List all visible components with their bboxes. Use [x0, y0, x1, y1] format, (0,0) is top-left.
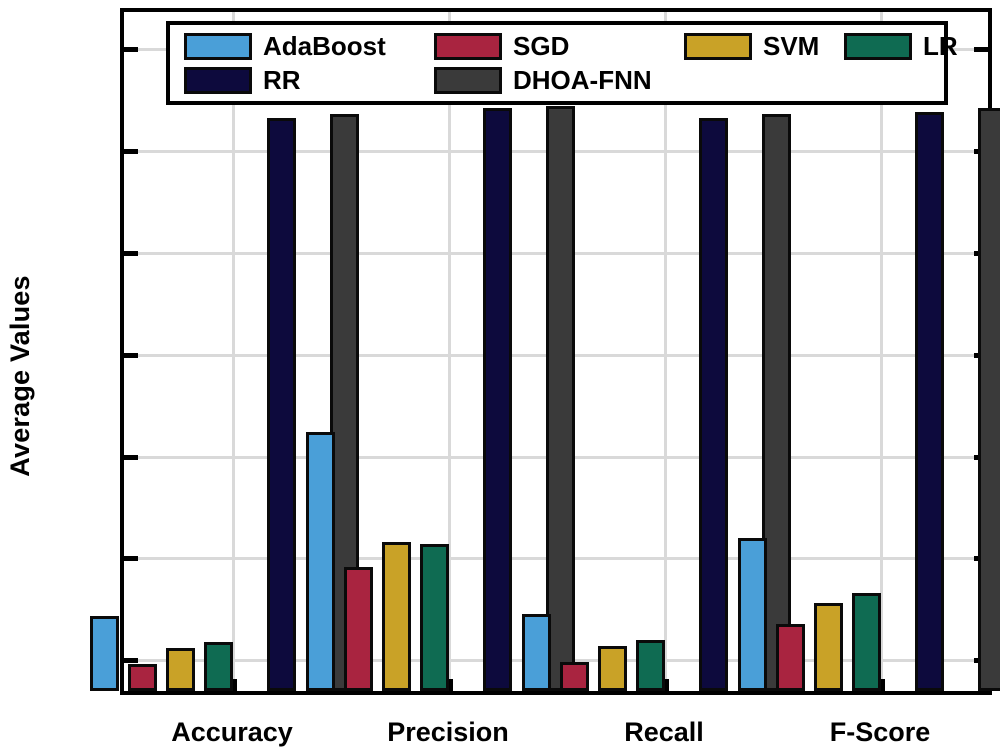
x-gridline	[664, 12, 667, 691]
x-tick-label-precision: Precision	[328, 717, 568, 748]
legend-label: SGD	[513, 31, 569, 62]
legend-item-sgd[interactable]: SGD	[434, 29, 569, 63]
legend-item-rr[interactable]: RR	[184, 63, 301, 97]
x-tick-mark	[880, 679, 885, 691]
y-tick-mark	[974, 47, 988, 52]
bar-svm-f-score	[814, 603, 843, 691]
bar-adaboost-recall	[522, 614, 551, 691]
y-tick-mark	[124, 455, 138, 460]
legend-item-dhoa-fnn[interactable]: DHOA-FNN	[434, 63, 652, 97]
bar-lr-precision	[420, 544, 449, 691]
bar-rr-f-score	[915, 112, 944, 691]
bar-lr-recall	[636, 640, 665, 691]
legend-label: RR	[263, 65, 301, 96]
plot-area: 0.70.750.80.850.90.951AccuracyPrecisionR…	[120, 8, 992, 695]
bar-sgd-precision	[344, 567, 373, 691]
bar-lr-f-score	[852, 593, 881, 691]
legend-label: LR	[923, 31, 958, 62]
bar-dhoa-fnn-f-score	[978, 108, 1000, 691]
x-gridline	[880, 12, 883, 691]
y-tick-mark	[124, 353, 138, 358]
y-tick-mark	[124, 556, 138, 561]
y-tick-mark	[124, 47, 138, 52]
legend-item-lr[interactable]: LR	[844, 29, 958, 63]
bar-dhoa-fnn-precision	[546, 106, 575, 691]
legend-swatch-icon	[184, 33, 252, 60]
legend-row: RRDHOA-FNN	[184, 63, 934, 97]
bar-adaboost-accuracy	[90, 616, 119, 691]
x-tick-mark	[664, 679, 669, 691]
legend-swatch-icon	[184, 67, 252, 94]
bar-adaboost-precision	[306, 432, 335, 691]
bar-rr-accuracy	[267, 118, 296, 691]
bar-sgd-f-score	[776, 624, 805, 691]
legend-swatch-icon	[434, 67, 502, 94]
y-tick-mark	[124, 658, 138, 663]
legend-label: DHOA-FNN	[513, 65, 652, 96]
bar-rr-precision	[483, 108, 512, 691]
bar-svm-accuracy	[166, 648, 195, 691]
plot-inner: 0.70.750.80.850.90.951AccuracyPrecisionR…	[124, 12, 988, 691]
x-tick-label-f-score: F-Score	[760, 717, 1000, 748]
legend-label: AdaBoost	[263, 31, 386, 62]
bar-svm-recall	[598, 646, 627, 691]
y-axis-title: Average Values	[0, 0, 40, 752]
legend-label: SVM	[763, 31, 819, 62]
bar-sgd-accuracy	[128, 664, 157, 691]
bar-svm-precision	[382, 542, 411, 691]
legend-swatch-icon	[434, 33, 502, 60]
legend-swatch-icon	[684, 33, 752, 60]
x-tick-mark	[448, 679, 453, 691]
legend-item-svm[interactable]: SVM	[684, 29, 819, 63]
x-tick-mark	[232, 679, 237, 691]
bar-adaboost-f-score	[738, 538, 767, 691]
legend-swatch-icon	[844, 33, 912, 60]
x-gridline	[232, 12, 235, 691]
chart-legend: AdaBoostSGDSVMLRRRDHOA-FNN	[166, 21, 948, 105]
x-tick-label-recall: Recall	[544, 717, 784, 748]
y-tick-mark	[124, 149, 138, 154]
legend-row: AdaBoostSGDSVMLR	[184, 29, 934, 63]
x-tick-label-accuracy: Accuracy	[112, 717, 352, 748]
bar-sgd-recall	[560, 662, 589, 691]
legend-item-adaboost[interactable]: AdaBoost	[184, 29, 386, 63]
bar-lr-accuracy	[204, 642, 233, 691]
bar-rr-recall	[699, 118, 728, 691]
bar-chart-figure: Average Values 0.70.750.80.850.90.951Acc…	[0, 0, 1000, 752]
y-tick-mark	[124, 251, 138, 256]
